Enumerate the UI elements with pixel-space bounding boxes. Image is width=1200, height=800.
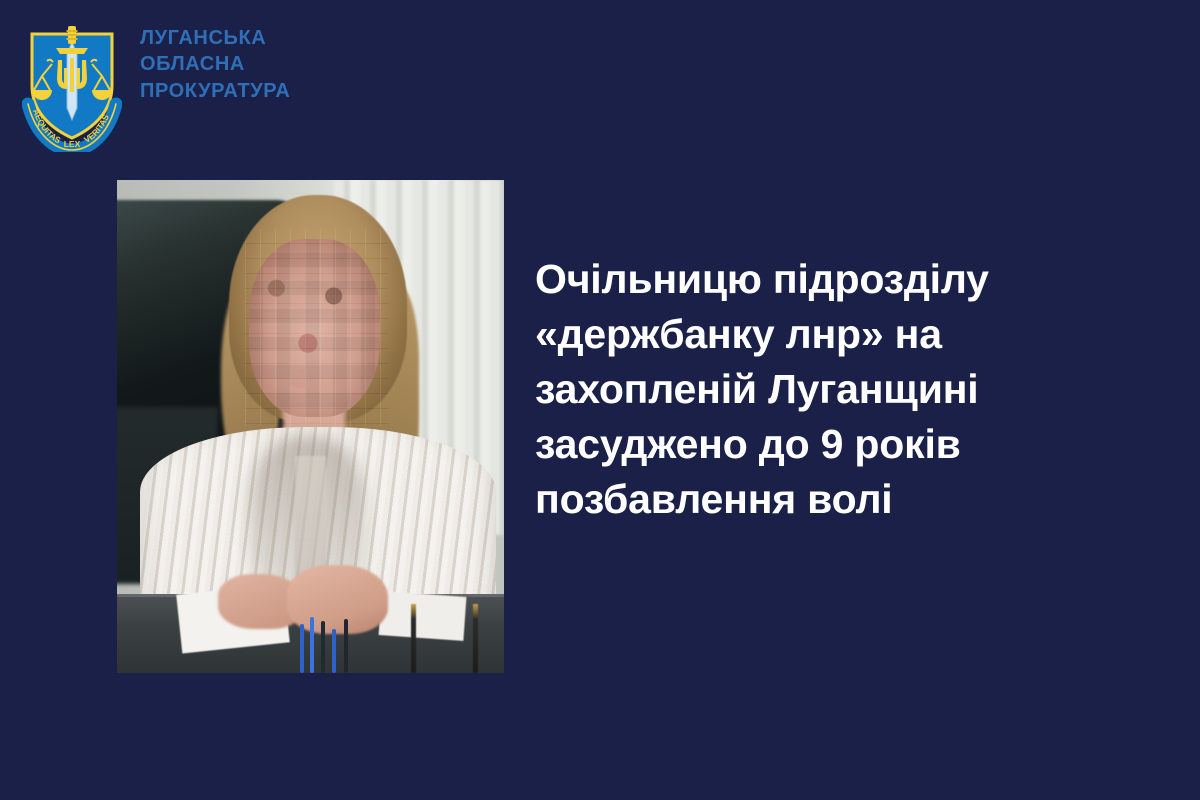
photo-pen-dark <box>321 621 325 673</box>
headline-line-3: захопленій Луганщині <box>535 362 1135 417</box>
photo-desk-rod-2 <box>473 604 478 673</box>
press-card: AEQUITAS VERITAS LEX ЛУГАНСЬКА ОБЛАСНА П… <box>0 0 1200 800</box>
photo-pen-blue-1 <box>300 624 304 673</box>
photo-desk-rod-1 <box>411 604 416 673</box>
brand-line-1: ЛУГАНСЬКА <box>140 28 290 48</box>
prosecutor-coat-of-arms-icon: AEQUITAS VERITAS LEX <box>22 12 122 152</box>
photo-pixelation-grid <box>245 229 388 426</box>
photo-pen-cluster <box>295 614 380 673</box>
brand-line-2: ОБЛАСНА <box>140 54 290 74</box>
headline: Очільницю підрозділу «держбанку лнр» на … <box>535 252 1135 527</box>
brand-line-3: ПРОКУРАТУРА <box>140 81 290 101</box>
photo-pen-blue-3 <box>332 629 336 673</box>
subject-photo <box>117 180 504 673</box>
photo-paper-right <box>379 591 467 641</box>
brand-block: AEQUITAS VERITAS LEX ЛУГАНСЬКА ОБЛАСНА П… <box>22 12 290 152</box>
headline-line-1: Очільницю підрозділу <box>535 252 1135 307</box>
motto-center-text: LEX <box>64 139 81 149</box>
headline-line-5: позбавлення волі <box>535 472 1135 527</box>
headline-line-4: засуджено до 9 років <box>535 417 1135 472</box>
photo-content <box>117 180 504 673</box>
headline-line-2: «держбанку лнр» на <box>535 307 1135 362</box>
brand-text: ЛУГАНСЬКА ОБЛАСНА ПРОКУРАТУРА <box>140 28 290 101</box>
photo-pen-black <box>344 619 348 673</box>
photo-pen-blue-2 <box>310 617 314 673</box>
